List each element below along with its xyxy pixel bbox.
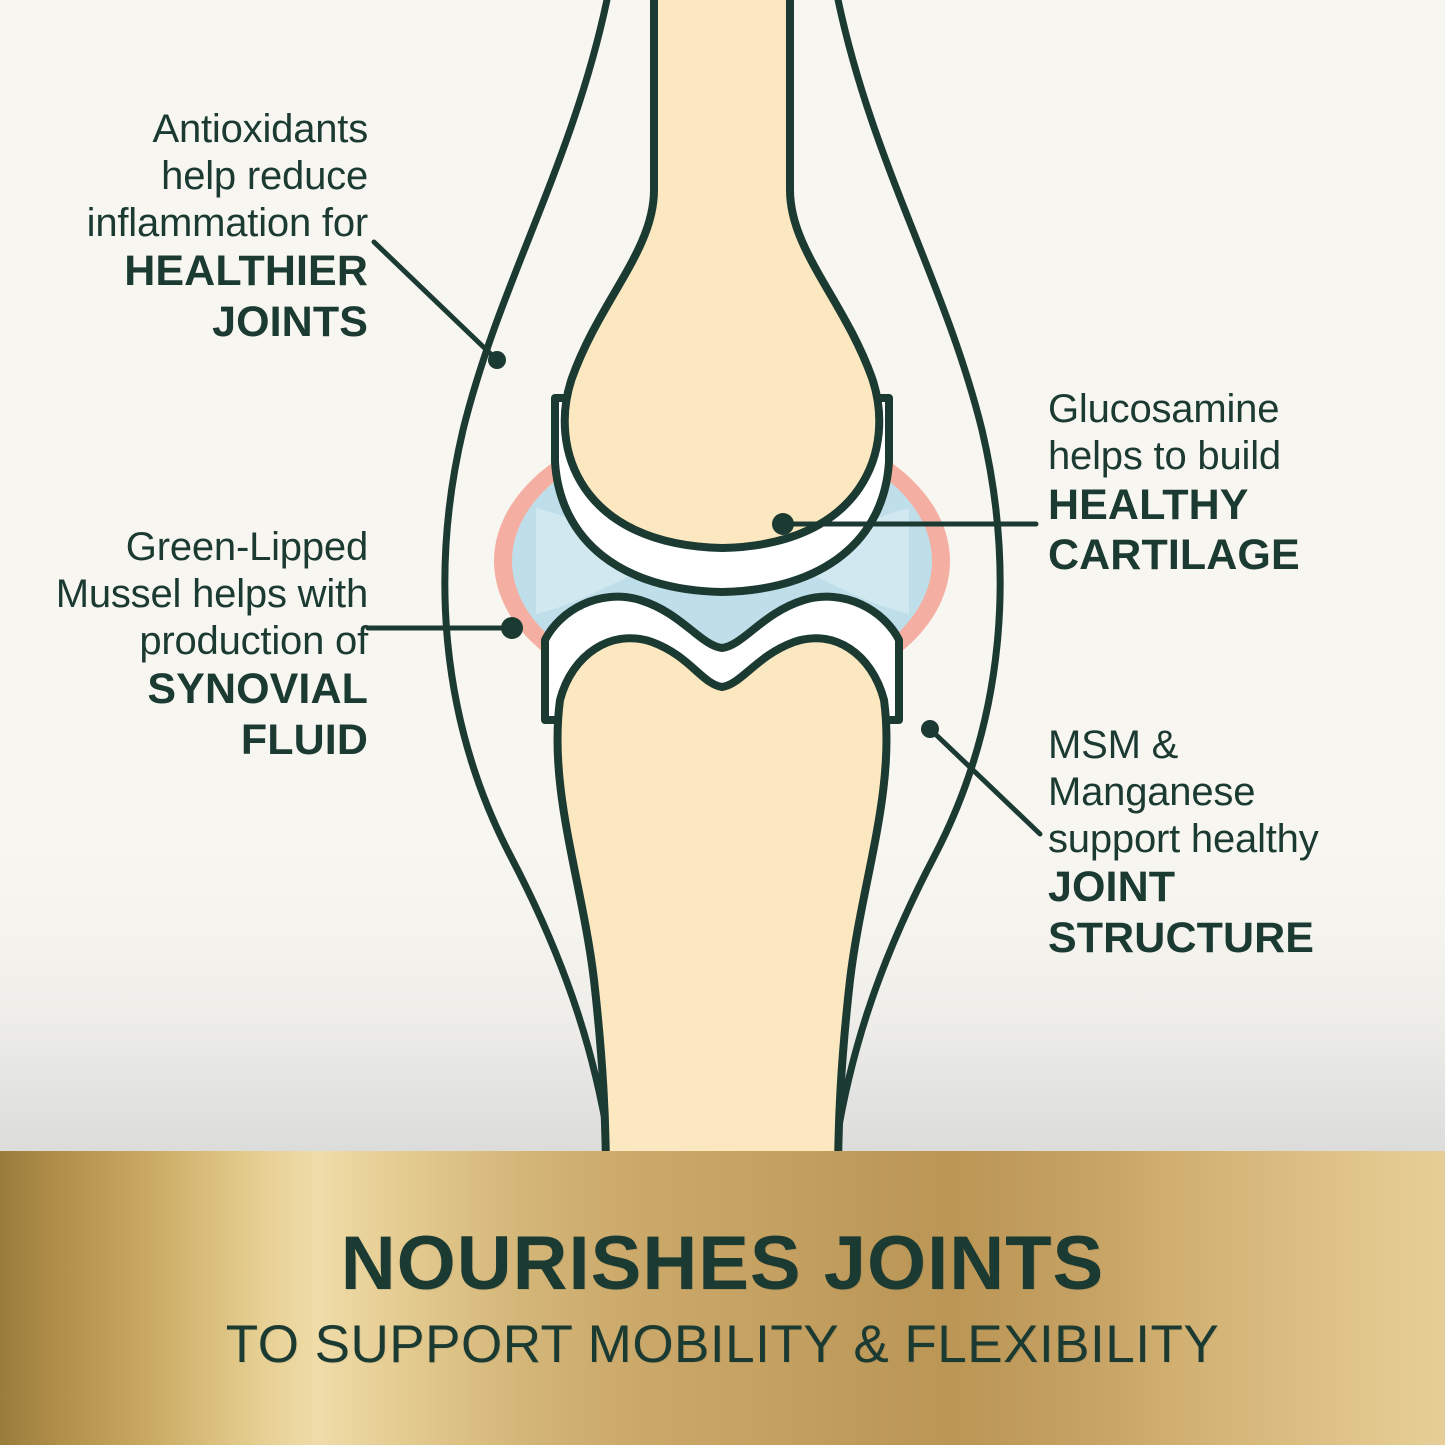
leader-dot-synovial	[501, 617, 523, 639]
callout-mussel-emphasis-2: FLUID	[8, 715, 368, 765]
callout-glucosamine-emphasis-1: HEALTHY	[1048, 480, 1408, 530]
banner-headline: NOURISHES JOINTS	[341, 1226, 1104, 1302]
callout-glucosamine-emphasis-2: CARTILAGE	[1048, 530, 1408, 580]
callout-mussel-line-2: Mussel helps with	[8, 571, 368, 618]
banner-subhead: TO SUPPORT MOBILITY & FLEXIBILITY	[226, 1318, 1219, 1371]
callout-mussel-emphasis-1: SYNOVIAL	[8, 664, 368, 714]
leader-dot-antioxidants	[488, 351, 506, 369]
callout-antioxidants-line-3: inflammation for	[30, 200, 368, 247]
callout-msm-emphasis-1: JOINT	[1048, 862, 1408, 912]
callout-msm-line-2: Manganese	[1048, 769, 1408, 816]
callout-antioxidants-emphasis-2: JOINTS	[30, 297, 368, 347]
gold-banner: NOURISHES JOINTS TO SUPPORT MOBILITY & F…	[0, 1151, 1445, 1445]
callout-glucosamine-line-2: helps to build	[1048, 433, 1408, 480]
callout-antioxidants-line-2: help reduce	[30, 153, 368, 200]
leader-dot-cartilage	[772, 513, 794, 535]
callout-antioxidants-line-1: Antioxidants	[30, 106, 368, 153]
callout-glucosamine: Glucosamine helps to build HEALTHY CARTI…	[1048, 386, 1408, 580]
callout-glucosamine-line-1: Glucosamine	[1048, 386, 1408, 433]
leader-dot-msm	[921, 720, 939, 738]
callout-antioxidants-emphasis-1: HEALTHIER	[30, 246, 368, 296]
leader-antioxidants	[374, 242, 497, 360]
callout-mussel-line-3: production of	[8, 618, 368, 665]
callout-msm-manganese: MSM & Manganese support healthy JOINT ST…	[1048, 722, 1408, 963]
callout-msm-emphasis-2: STRUCTURE	[1048, 913, 1408, 963]
infographic-page: Antioxidants help reduce inflammation fo…	[0, 0, 1445, 1445]
callout-antioxidants: Antioxidants help reduce inflammation fo…	[30, 106, 368, 347]
callout-msm-line-3: support healthy	[1048, 816, 1408, 863]
lower-bone-tibia	[557, 638, 886, 1180]
leader-msm	[930, 729, 1040, 834]
callout-green-lipped-mussel: Green-Lipped Mussel helps with productio…	[8, 524, 368, 765]
callout-msm-line-1: MSM &	[1048, 722, 1408, 769]
upper-bone-femur	[565, 0, 880, 548]
callout-mussel-line-1: Green-Lipped	[8, 524, 368, 571]
